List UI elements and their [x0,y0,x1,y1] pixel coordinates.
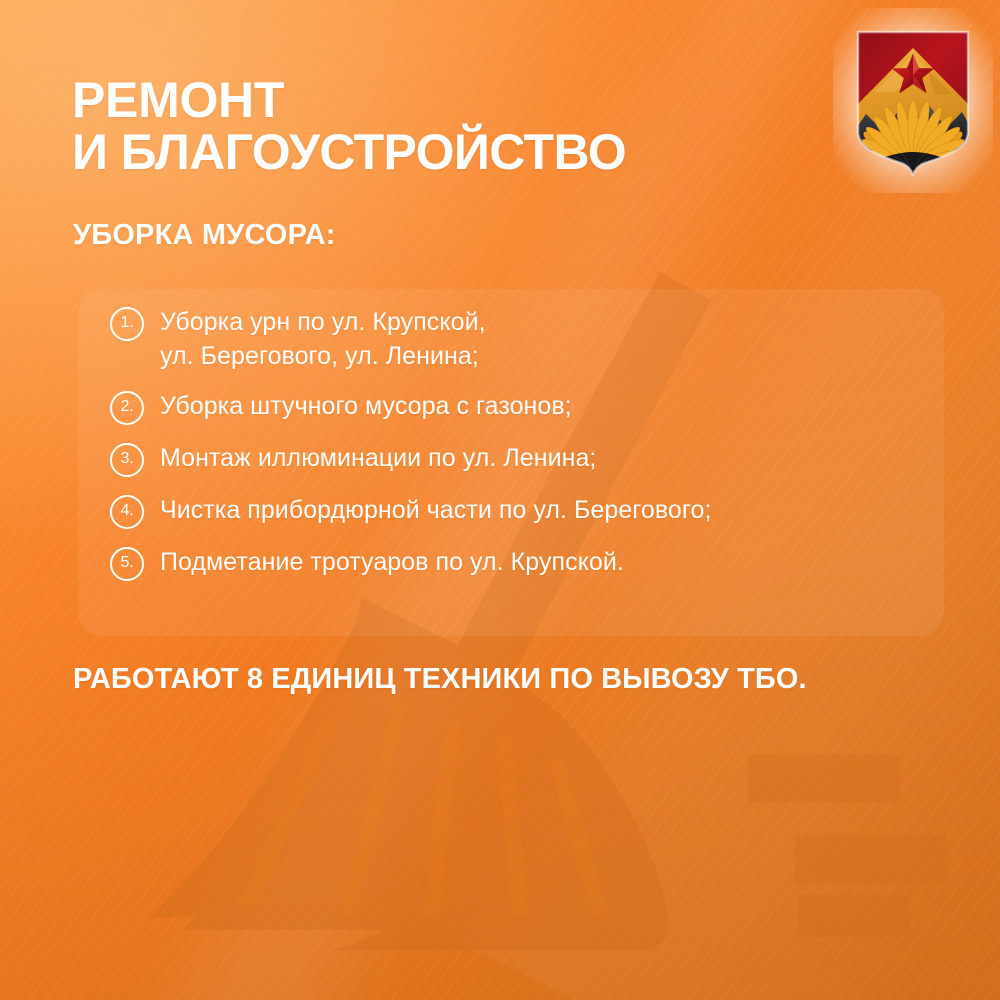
list-item-number: 3. [110,443,144,477]
list-item-label: Монтаж иллюминации по ул. Ленина; [160,441,596,475]
list-item-number: 2. [110,391,144,425]
task-list: 1. Уборка урн по ул. Крупской, ул. Берег… [110,305,950,581]
section-subheading: УБОРКА МУСОРА: [73,219,336,252]
list-item-label: Уборка штучного мусора с газонов; [160,389,572,423]
list-item: 3. Монтаж иллюминации по ул. Ленина; [110,441,950,477]
list-item: 5. Подметание тротуаров по ул. Крупской. [110,545,950,581]
list-item-number: 1. [110,307,144,341]
list-item: 4. Чистка прибордюрной части по ул. Бере… [110,493,950,529]
list-item-label: Уборка урн по ул. Крупской, ул. Берегово… [160,305,486,373]
list-item: 1. Уборка урн по ул. Крупской, ул. Берег… [110,305,950,373]
list-item-label: Подметание тротуаров по ул. Крупской. [160,545,624,579]
coat-of-arms-shield-icon [854,28,972,176]
coat-of-arms [833,8,993,193]
list-item: 2. Уборка штучного мусора с газонов; [110,389,950,425]
list-item-label: Чистка прибордюрной части по ул. Берегов… [160,493,711,527]
headline-line-1: РЕМОНТ [72,74,832,126]
footer-note: РАБОТАЮТ 8 ЕДИНИЦ ТЕХНИКИ ПО ВЫВОЗУ ТБО. [73,663,807,696]
list-item-number: 5. [110,547,144,581]
page-title: РЕМОНТ И БЛАГОУСТРОЙСТВО [72,74,832,178]
headline-line-2: И БЛАГОУСТРОЙСТВО [72,126,832,178]
poster-canvas: РЕМОНТ И БЛАГОУСТРОЙСТВО УБОРКА МУСОРА: … [0,0,1000,1000]
list-item-number: 4. [110,495,144,529]
